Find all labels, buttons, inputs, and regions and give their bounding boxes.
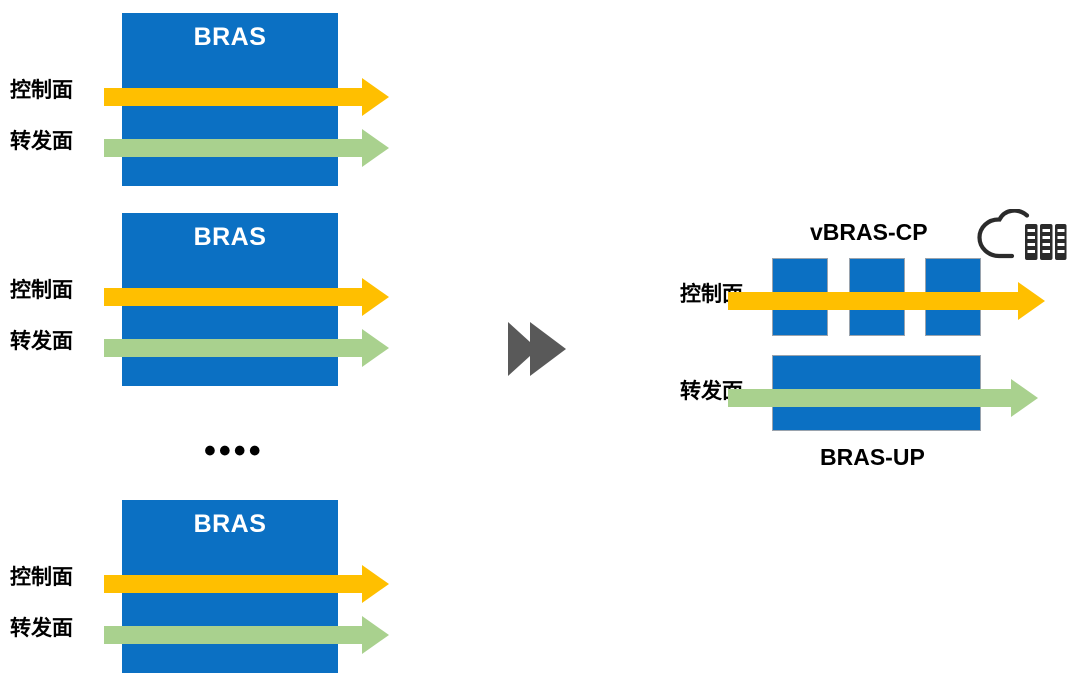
bras-1-forwarding-plane-arrow (104, 129, 389, 167)
bras-2-forwarding-plane-arrow (104, 329, 389, 367)
bras-device-2: BRAS 控制面 转发面 (0, 200, 420, 400)
bras-2-control-plane-arrow (104, 278, 389, 316)
bras-1-forwarding-plane-label: 转发面 (10, 125, 73, 155)
bras-box-3-label: BRAS (122, 510, 338, 539)
bras-3-forwarding-plane-label: 转发面 (10, 612, 73, 642)
bras-2-control-plane-label: 控制面 (10, 274, 73, 304)
bras-box-2-label: BRAS (122, 223, 338, 252)
bras-device-3: BRAS 控制面 转发面 (0, 487, 420, 687)
bras-1-control-plane-label: 控制面 (10, 74, 73, 104)
bras-3-control-plane-arrow (104, 565, 389, 603)
vbras-cp-control-plane-arrow (728, 282, 1045, 320)
diagram-canvas: BRAS 控制面 转发面 BRAS 控制面 转发面 •••• BRAS 控制面 … (0, 0, 1080, 693)
bras-box-1-label: BRAS (122, 23, 338, 52)
bras-up-forwarding-plane-arrow (728, 379, 1038, 417)
vbras-cp-title: vBRAS-CP (810, 219, 928, 246)
bras-device-1: BRAS 控制面 转发面 (0, 0, 420, 200)
bras-3-control-plane-label: 控制面 (10, 561, 73, 591)
bras-ellipsis: •••• (204, 434, 264, 468)
bras-2-forwarding-plane-label: 转发面 (10, 325, 73, 355)
bras-1-control-plane-arrow (104, 78, 389, 116)
double-chevron-right-icon (508, 320, 570, 378)
cloud-server-icon (975, 209, 1067, 271)
bras-3-forwarding-plane-arrow (104, 616, 389, 654)
bras-up-title: BRAS-UP (820, 444, 925, 471)
